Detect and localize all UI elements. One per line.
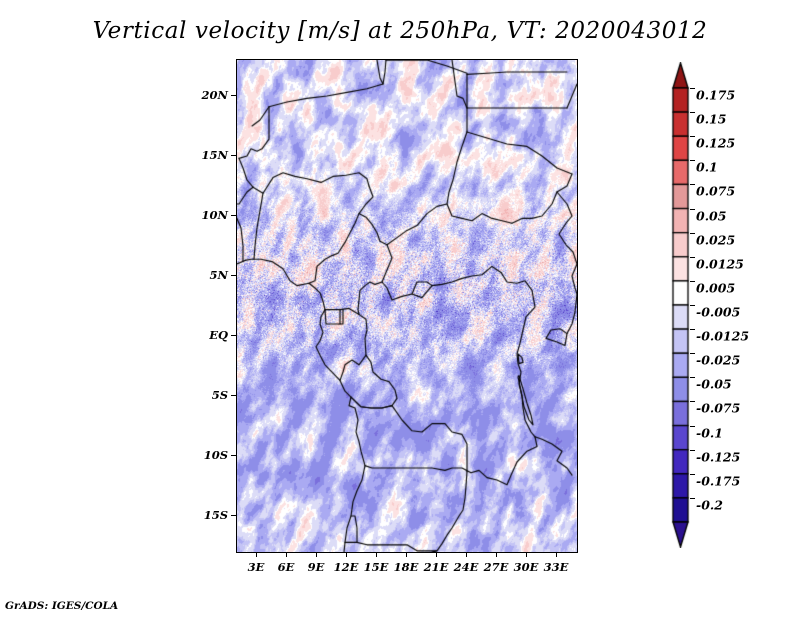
y-axis-tick [231, 95, 236, 96]
x-axis-tick [286, 552, 287, 557]
colorbar-tick [690, 88, 695, 89]
colorbar-tick [690, 184, 695, 185]
colorbar-tick [690, 377, 695, 378]
colorbar-label: -0.05 [696, 377, 732, 392]
colorbar-label: -0.175 [696, 473, 740, 488]
x-axis-label: 15E [364, 560, 389, 574]
y-axis-tick [231, 155, 236, 156]
colorbar-label: 0.125 [696, 136, 735, 151]
y-axis-tick [231, 275, 236, 276]
page-title: Vertical velocity [m/s] at 250hPa, VT: 2… [0, 18, 800, 44]
y-axis-label: 20N [190, 88, 228, 102]
colorbar-label: 0.005 [696, 280, 735, 295]
colorbar-gradient [671, 62, 690, 548]
colorbar-tick [690, 353, 695, 354]
colorbar-tick [690, 136, 695, 137]
y-axis-label: 5N [190, 268, 228, 282]
colorbar-label: 0.0125 [696, 256, 744, 271]
colorbar-label: 0.025 [696, 232, 735, 247]
x-axis-tick [346, 552, 347, 557]
y-axis-label: 10S [190, 448, 228, 462]
grads-chart-root: Vertical velocity [m/s] at 250hPa, VT: 2… [0, 0, 800, 618]
x-axis-tick [556, 552, 557, 557]
y-axis-tick [231, 515, 236, 516]
colorbar-tick [690, 257, 695, 258]
colorbar-tick [690, 498, 695, 499]
colorbar-tick [690, 112, 695, 113]
x-axis-tick [376, 552, 377, 557]
x-axis-label: 6E [278, 560, 295, 574]
y-axis-label: EQ [190, 328, 228, 342]
colorbar-label: 0.175 [696, 88, 735, 103]
colorbar-tick [690, 401, 695, 402]
x-axis-label: 9E [308, 560, 325, 574]
y-axis-tick [231, 395, 236, 396]
map-plot-area [236, 59, 578, 553]
colorbar-label: 0.05 [696, 208, 726, 223]
footer-credit: GrADS: IGES/COLA [5, 600, 118, 612]
x-axis-tick [256, 552, 257, 557]
colorbar-label: -0.1 [696, 425, 723, 440]
colorbar-tick [690, 233, 695, 234]
colorbar-label: -0.025 [696, 353, 740, 368]
y-axis-label: 15N [190, 148, 228, 162]
colorbar-label: -0.075 [696, 401, 740, 416]
colorbar-tick [690, 281, 695, 282]
colorbar-tick [690, 329, 695, 330]
colorbar-tick [690, 474, 695, 475]
x-axis-tick [466, 552, 467, 557]
country-borders-overlay [237, 60, 577, 552]
y-axis-label: 5S [190, 388, 228, 402]
x-axis-tick [496, 552, 497, 557]
x-axis-label: 21E [424, 560, 449, 574]
colorbar-label: 0.15 [696, 112, 726, 127]
colorbar-tick [690, 426, 695, 427]
colorbar-label: -0.125 [696, 449, 740, 464]
x-axis-label: 3E [248, 560, 265, 574]
x-axis-label: 27E [484, 560, 509, 574]
y-axis-tick [231, 215, 236, 216]
colorbar [671, 62, 690, 548]
x-axis-label: 24E [454, 560, 479, 574]
colorbar-label: -0.2 [696, 497, 723, 512]
colorbar-tick [690, 450, 695, 451]
y-axis-label: 10N [190, 208, 228, 222]
colorbar-tick [690, 305, 695, 306]
colorbar-label: -0.0125 [696, 329, 749, 344]
y-axis-label: 15S [190, 508, 228, 522]
x-axis-label: 33E [544, 560, 569, 574]
colorbar-tick [690, 209, 695, 210]
colorbar-label: -0.005 [696, 305, 740, 320]
y-axis-tick [231, 455, 236, 456]
x-axis-tick [436, 552, 437, 557]
colorbar-label: 0.075 [696, 184, 735, 199]
x-axis-tick [526, 552, 527, 557]
y-axis-tick [231, 335, 236, 336]
x-axis-tick [406, 552, 407, 557]
x-axis-label: 12E [334, 560, 359, 574]
x-axis-label: 30E [514, 560, 539, 574]
x-axis-tick [316, 552, 317, 557]
x-axis-label: 18E [394, 560, 419, 574]
colorbar-label: 0.1 [696, 160, 718, 175]
colorbar-tick [690, 160, 695, 161]
